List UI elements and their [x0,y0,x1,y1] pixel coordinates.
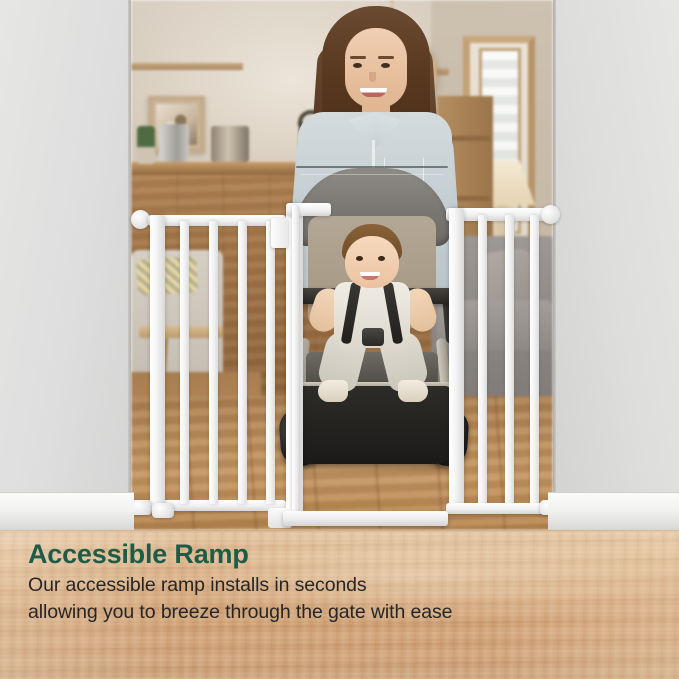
gate-right-baluster-3 [530,215,539,507]
baseboard-left [0,492,134,530]
floor-edge-line [0,530,679,532]
accessible-ramp[interactable] [283,511,448,526]
caption-line-1: Our accessible ramp installs in seconds [28,572,452,599]
baseboard-right [548,492,679,530]
gate-latch[interactable] [271,218,288,248]
gate-right-inner-post [449,208,464,512]
caption-line-2: allowing you to breeze through the gate … [28,599,452,626]
caption-banner: Accessible Ramp Our accessible ramp inst… [0,530,679,679]
gate-left-baluster-2 [209,221,218,504]
wall-mount-cup-top-right[interactable] [541,205,560,224]
caption-title: Accessible Ramp [28,538,452,570]
gate-left-outer-post [150,215,165,511]
gate-left-baluster-4 [266,221,275,504]
caption-text-block: Accessible Ramp Our accessible ramp inst… [28,538,452,626]
product-feature-image: Accessible Ramp Our accessible ramp inst… [0,0,679,679]
gate-left-baluster-1 [180,221,189,504]
gate-right-baluster-2 [505,215,514,507]
gate-left-baluster-3 [238,221,247,504]
gate-door-edge [292,205,299,523]
gate-right-baluster-1 [478,215,487,507]
lifestyle-photo [0,0,679,530]
baby-safety-gate[interactable] [0,0,679,530]
gate-left-foot [152,503,174,518]
